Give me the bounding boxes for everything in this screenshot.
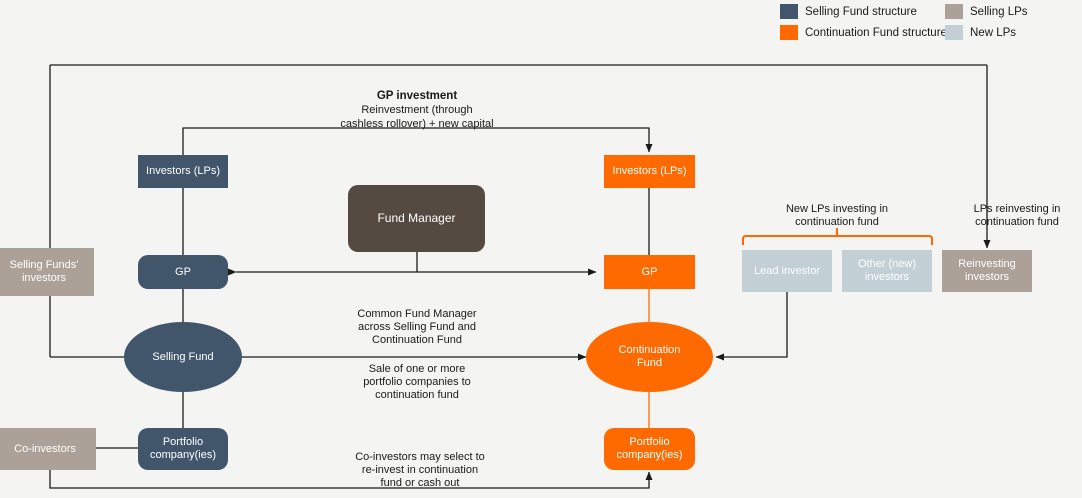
node-continuation-fund[interactable]: Continuation Fund <box>586 322 713 392</box>
label-coinvestors-line1: Co-investors may select to <box>325 450 515 464</box>
node-investors-lps-right[interactable]: Investors (LPs) <box>604 155 695 188</box>
legend-label-selling-lps: Selling LPs <box>970 6 1028 18</box>
new-lps-bracket <box>743 228 932 245</box>
label-gp-investment-line2: cashless rollover) + new capital <box>267 117 567 131</box>
node-lead-investor[interactable]: Lead investor <box>742 250 832 292</box>
label-sale-line2: portfolio companies to <box>327 375 507 389</box>
label-common-fund-manager-line1: Common Fund Manager <box>327 307 507 321</box>
legend-swatch-selling-fund-structure <box>780 4 798 19</box>
node-fund-manager[interactable]: Fund Manager <box>348 185 485 252</box>
legend-swatch-selling-lps <box>945 4 963 19</box>
label-gp-investment-title: GP investment <box>267 89 567 104</box>
legend-item-selling-fund-structure: Selling Fund structure <box>780 4 917 19</box>
node-portfolio-company-right[interactable]: Portfolio company(ies) <box>604 428 695 470</box>
node-selling-fund[interactable]: Selling Fund <box>124 322 242 392</box>
node-gp-left[interactable]: GP <box>138 255 228 289</box>
label-new-lps-line2: continuation fund <box>747 215 927 229</box>
diagram-canvas: Selling Fund structure Continuation Fund… <box>0 0 1082 498</box>
label-sale-line1: Sale of one or more <box>327 362 507 376</box>
node-reinvesting-investors[interactable]: Reinvesting investors <box>942 250 1032 292</box>
label-common-fund-manager-line2: across Selling Fund and <box>327 320 507 334</box>
label-common-fund-manager-line3: Continuation Fund <box>327 333 507 347</box>
connector-layer <box>0 0 1082 498</box>
label-sale-line3: continuation fund <box>327 388 507 402</box>
legend-item-continuation-fund-structure: Continuation Fund structure <box>780 25 947 40</box>
node-investors-lps-left[interactable]: Investors (LPs) <box>138 155 228 188</box>
label-reinvesting-lps-line1: LPs reinvesting in <box>952 202 1082 216</box>
legend-swatch-continuation-fund-structure <box>780 25 798 40</box>
edge-lead-investor-to-continuation <box>716 292 787 357</box>
edge-gp-investment <box>183 128 649 155</box>
node-gp-right[interactable]: GP <box>604 255 695 289</box>
legend-swatch-new-lps <box>945 25 963 40</box>
label-coinvestors-line3: fund or cash out <box>325 476 515 490</box>
label-reinvesting-lps-line2: continuation fund <box>952 215 1082 229</box>
legend-item-new-lps: New LPs <box>945 25 1016 40</box>
node-portfolio-company-left[interactable]: Portfolio company(ies) <box>138 428 228 470</box>
legend-label-new-lps: New LPs <box>970 27 1016 39</box>
legend: Selling Fund structure Continuation Fund… <box>780 4 1080 42</box>
label-new-lps-line1: New LPs investing in <box>747 202 927 216</box>
node-co-investors[interactable]: Co-investors <box>0 428 96 470</box>
node-selling-funds-investors[interactable]: Selling Funds' investors <box>0 248 94 296</box>
legend-label-selling-fund-structure: Selling Fund structure <box>805 6 917 18</box>
node-other-new-investors[interactable]: Other (new) investors <box>842 250 932 292</box>
legend-label-continuation-fund-structure: Continuation Fund structure <box>805 27 947 39</box>
label-gp-investment-line1: Reinvestment (through <box>267 103 567 117</box>
legend-item-selling-lps: Selling LPs <box>945 4 1028 19</box>
label-coinvestors-line2: re-invest in continuation <box>325 463 515 477</box>
